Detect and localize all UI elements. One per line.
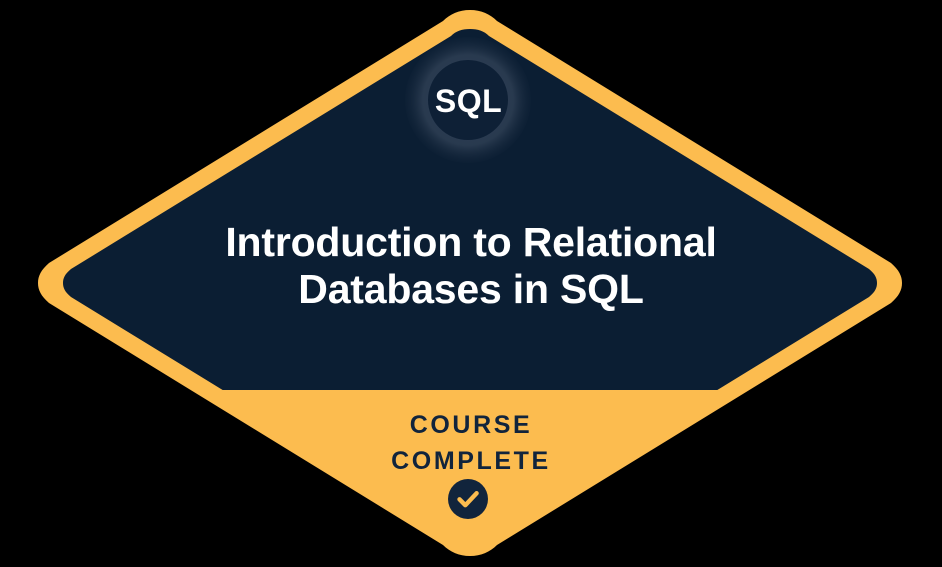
course-title: Introduction to Relational Databases in …: [121, 219, 821, 313]
course-status: COURSE COMPLETE: [221, 407, 721, 479]
course-status-line-2: COMPLETE: [221, 443, 721, 479]
check-circle-icon: [448, 479, 488, 519]
course-title-line-2: Databases in SQL: [121, 266, 821, 313]
course-status-line-1: COURSE: [221, 407, 721, 443]
course-title-line-1: Introduction to Relational: [121, 219, 821, 266]
sql-logo: SQL: [405, 37, 532, 164]
course-completion-badge: SQL Introduction to Relational Databases…: [0, 0, 942, 567]
sql-logo-label: SQL: [435, 85, 502, 117]
